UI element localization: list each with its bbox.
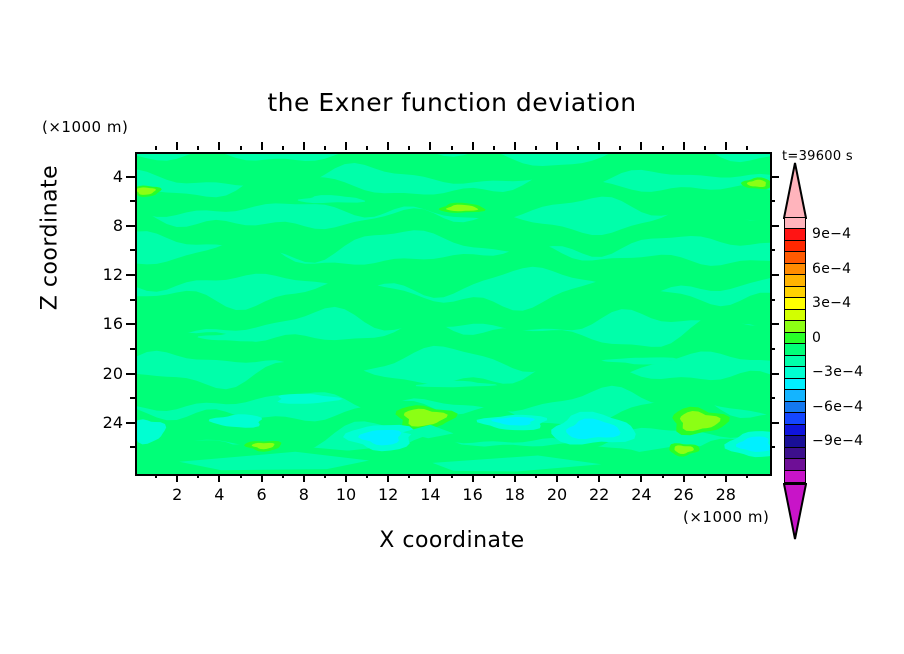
y-tick-mark (130, 249, 135, 251)
x-tick-mark (577, 474, 579, 478)
x-tick-mark (218, 474, 220, 482)
x-tick-mark (704, 474, 706, 478)
x-tick-label-2: 2 (157, 485, 197, 504)
colorbar-label-2: 3e−4 (812, 295, 851, 311)
x-tick-label-12: 12 (368, 485, 408, 504)
y-tick-label-20: 8 (77, 216, 123, 235)
y-tick-mark-right (770, 422, 779, 424)
x-tick-mark-top (345, 142, 347, 150)
y-tick-mark-right (770, 225, 779, 227)
y-tick-mark-right (770, 299, 775, 301)
y-tick-mark (130, 397, 135, 399)
x-tick-mark (725, 474, 727, 482)
x-tick-mark-top (155, 146, 157, 150)
y-tick-mark (126, 225, 135, 227)
x-tick-label-18: 18 (495, 485, 535, 504)
x-tick-mark (535, 474, 537, 478)
y-tick-label-12: 16 (77, 314, 123, 333)
x-tick-mark (662, 474, 664, 478)
x-tick-mark-top (662, 146, 664, 150)
x-tick-mark-top (261, 142, 263, 150)
x-tick-mark-top (176, 142, 178, 150)
x-tick-mark-top (704, 146, 706, 150)
y-tick-mark-right (770, 446, 775, 448)
y-tick-mark-right (770, 274, 779, 276)
y-tick-label-4: 24 (77, 413, 123, 432)
y-tick-label-16: 12 (77, 265, 123, 284)
colorbar-label-1: 6e−4 (812, 261, 851, 277)
y-tick-mark-right (770, 200, 775, 202)
x-tick-mark-top (429, 142, 431, 150)
colorbar-min-arrow (783, 483, 807, 541)
x-tick-mark (556, 474, 558, 482)
contour-field (137, 154, 770, 474)
colorbar-label-5: −6e−4 (812, 399, 863, 415)
x-tick-mark-top (493, 146, 495, 150)
x-tick-mark (472, 474, 474, 482)
y-tick-mark (130, 348, 135, 350)
x-tick-mark (155, 474, 157, 478)
x-tick-label-8: 8 (284, 485, 324, 504)
x-tick-mark (197, 474, 199, 478)
y-tick-label-8: 20 (77, 364, 123, 383)
x-tick-label-26: 26 (664, 485, 704, 504)
x-tick-mark-top (240, 146, 242, 150)
x-tick-mark (683, 474, 685, 482)
x-tick-mark (387, 474, 389, 482)
x-tick-mark-top (451, 146, 453, 150)
y-tick-mark (126, 373, 135, 375)
x-tick-mark (429, 474, 431, 482)
x-tick-label-24: 24 (621, 485, 661, 504)
x-tick-mark (408, 474, 410, 478)
colorbar-label-3: 0 (812, 330, 821, 346)
x-tick-label-20: 20 (537, 485, 577, 504)
x-tick-mark-top (282, 146, 284, 150)
y-tick-mark (126, 274, 135, 276)
x-tick-mark-top (197, 146, 199, 150)
colorbar-label-6: −9e−4 (812, 433, 863, 449)
colorbar-label-4: −3e−4 (812, 364, 863, 380)
x-tick-label-10: 10 (326, 485, 366, 504)
x-tick-mark (451, 474, 453, 478)
x-tick-mark-top (387, 142, 389, 150)
colorbar-label-0: 9e−4 (812, 226, 851, 242)
x-tick-mark (598, 474, 600, 482)
x-tick-mark (640, 474, 642, 482)
y-tick-mark (130, 200, 135, 202)
x-tick-mark (366, 474, 368, 478)
x-tick-mark (240, 474, 242, 478)
x-tick-mark-top (619, 146, 621, 150)
colorbar-max-arrow (783, 161, 807, 219)
x-tick-mark-top (577, 146, 579, 150)
x-tick-mark-top (683, 142, 685, 150)
x-tick-mark (619, 474, 621, 478)
x-tick-mark-top (324, 146, 326, 150)
x-tick-mark (324, 474, 326, 478)
x-tick-mark-top (598, 142, 600, 150)
x-tick-label-14: 14 (410, 485, 450, 504)
contour-plot-area (135, 152, 772, 476)
y-tick-mark (126, 422, 135, 424)
x-tick-mark (493, 474, 495, 478)
x-axis-title: X coordinate (0, 528, 904, 553)
y-tick-mark-right (770, 323, 779, 325)
x-tick-label-22: 22 (579, 485, 619, 504)
y-tick-mark (126, 176, 135, 178)
x-tick-mark-top (366, 146, 368, 150)
y-tick-mark-right (770, 249, 775, 251)
x-tick-mark-top (746, 146, 748, 150)
x-tick-mark-top (472, 142, 474, 150)
y-tick-mark (126, 323, 135, 325)
x-tick-mark-top (640, 142, 642, 150)
x-tick-mark (261, 474, 263, 482)
x-tick-mark (345, 474, 347, 482)
x-tick-mark-top (725, 142, 727, 150)
x-tick-mark-top (218, 142, 220, 150)
x-tick-mark (176, 474, 178, 482)
y-tick-mark-right (770, 373, 779, 375)
y-tick-mark-right (770, 348, 775, 350)
x-tick-mark-top (514, 142, 516, 150)
x-tick-mark-top (556, 142, 558, 150)
x-tick-label-16: 16 (453, 485, 493, 504)
x-tick-mark (303, 474, 305, 482)
page-title: the Exner function deviation (0, 88, 904, 117)
x-tick-mark-top (408, 146, 410, 150)
x-tick-mark (746, 474, 748, 478)
x-tick-mark (514, 474, 516, 482)
x-tick-label-28: 28 (706, 485, 746, 504)
x-axis-units-label: (×1000 m) (683, 508, 769, 526)
x-tick-mark-top (303, 142, 305, 150)
x-tick-mark-top (535, 146, 537, 150)
y-tick-mark-right (770, 176, 779, 178)
x-tick-mark (282, 474, 284, 478)
y-tick-mark-right (770, 397, 775, 399)
colorbar-band-22 (784, 470, 806, 483)
y-tick-mark (130, 299, 135, 301)
x-tick-label-6: 6 (242, 485, 282, 504)
x-tick-label-4: 4 (199, 485, 239, 504)
y-tick-mark (130, 446, 135, 448)
y-axis-title: Z coordinate (38, 128, 63, 348)
y-tick-label-24: 4 (77, 167, 123, 186)
